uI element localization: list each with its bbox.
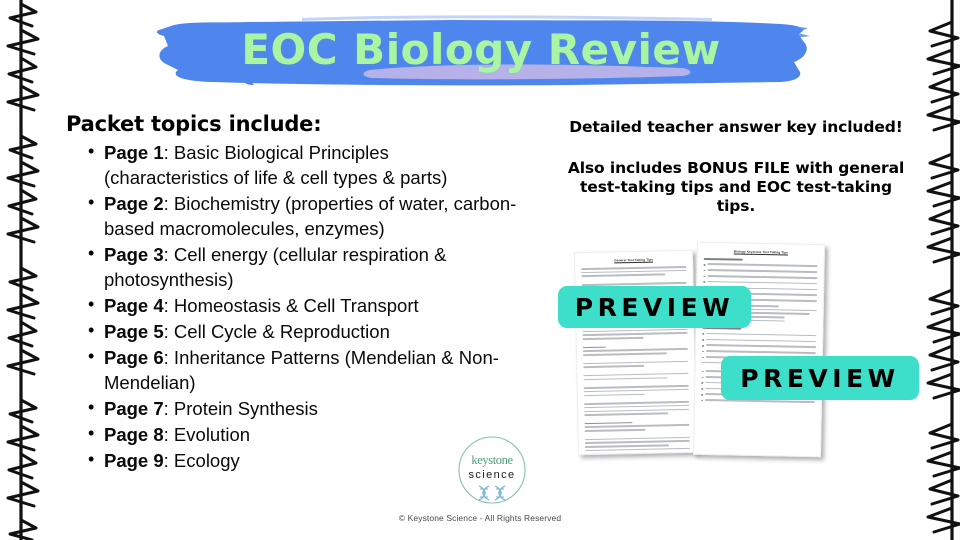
- list-item: Page 1: Basic Biological Principles (cha…: [66, 140, 518, 190]
- topic-page-label: Page 6: [104, 347, 164, 368]
- topic-page-label: Page 1: [104, 142, 164, 163]
- dna-helix-icon: [479, 486, 505, 500]
- list-item: Page 6: Inheritance Patterns (Mendelian …: [66, 345, 518, 395]
- topic-page-label: Page 9: [104, 450, 164, 471]
- topic-list: Page 1: Basic Biological Principles (cha…: [66, 140, 518, 473]
- topics-section: Packet topics include: Page 1: Basic Bio…: [66, 112, 518, 474]
- preview-badge-2: PREVIEW: [721, 356, 919, 400]
- logo-line-2: science: [468, 469, 515, 481]
- answer-key-promo: Detailed teacher answer key included!: [566, 118, 906, 137]
- document-b-title: Biology Keystone Test Taking Tips: [702, 249, 820, 256]
- topic-page-label: Page 2: [104, 193, 164, 214]
- footer-copyright: © Keystone Science - All Rights Reserved: [0, 513, 960, 523]
- topic-text: : Biochemistry (properties of water, car…: [104, 193, 516, 239]
- preview-badge-1: PREVIEW: [558, 286, 751, 328]
- preview-documents: General Test Taking Tips Biology Keyston…: [566, 243, 926, 461]
- topic-page-label: Page 4: [104, 295, 164, 316]
- title-banner: EOC Biology Review: [152, 12, 810, 90]
- topic-text: : Protein Synthesis: [164, 398, 318, 419]
- list-item: Page 4: Homeostasis & Cell Transport: [66, 293, 518, 318]
- packet-topics-heading: Packet topics include:: [66, 112, 518, 136]
- page-title: EOC Biology Review: [152, 12, 810, 90]
- spiral-binding-left: [0, 0, 44, 540]
- promo-section: Detailed teacher answer key included! Al…: [566, 118, 906, 216]
- topic-text: : Cell Cycle & Reproduction: [164, 321, 390, 342]
- keystone-science-logo: keystone science: [456, 434, 528, 506]
- topic-text: : Evolution: [164, 424, 250, 445]
- topic-page-label: Page 8: [104, 424, 164, 445]
- document-a-title: General Test Taking Tips: [579, 257, 688, 264]
- logo-line-1: keystone: [471, 453, 513, 467]
- list-item: Page 3: Cell energy (cellular respiratio…: [66, 242, 518, 292]
- document-preview-a: General Test Taking Tips: [574, 250, 697, 455]
- list-item: Page 5: Cell Cycle & Reproduction: [66, 319, 518, 344]
- topic-page-label: Page 7: [104, 398, 164, 419]
- document-preview-b: Biology Keystone Test Taking Tips: [693, 242, 825, 457]
- list-item: Page 9: Ecology: [66, 448, 518, 473]
- list-item: Page 7: Protein Synthesis: [66, 396, 518, 421]
- topic-text: : Ecology: [164, 450, 240, 471]
- list-item: Page 8: Evolution: [66, 422, 518, 447]
- spiral-binding-right: [916, 0, 960, 540]
- topic-page-label: Page 5: [104, 321, 164, 342]
- topic-text: : Homeostasis & Cell Transport: [164, 295, 419, 316]
- bonus-file-promo: Also includes BONUS FILE with general te…: [566, 159, 906, 216]
- topic-page-label: Page 3: [104, 244, 164, 265]
- list-item: Page 2: Biochemistry (properties of wate…: [66, 191, 518, 241]
- topic-text: : Inheritance Patterns (Mendelian & Non-…: [104, 347, 499, 393]
